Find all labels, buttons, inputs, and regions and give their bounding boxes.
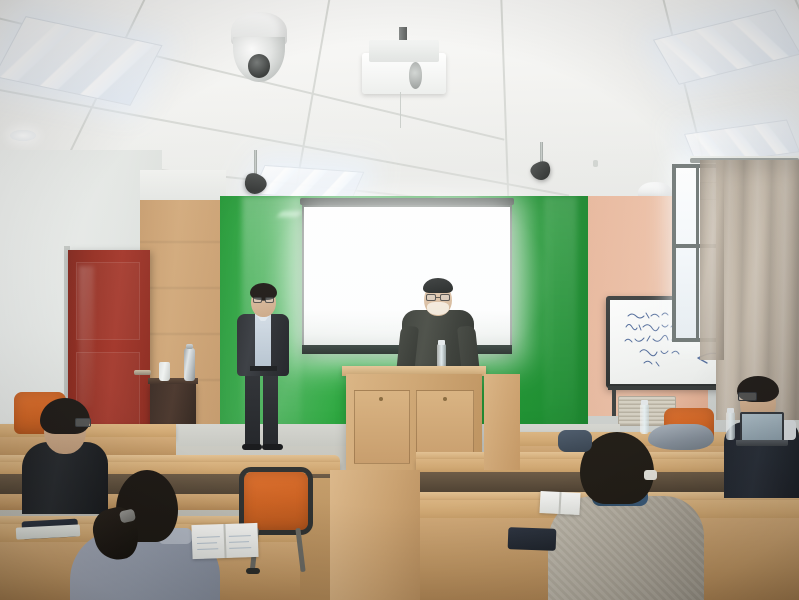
presenter-suit-belt bbox=[250, 366, 277, 371]
water-bottle bbox=[726, 412, 735, 440]
flask-cap bbox=[186, 344, 193, 349]
vacuum-flask bbox=[184, 348, 195, 381]
laptop[interactable] bbox=[740, 412, 784, 442]
open-notebook bbox=[539, 491, 580, 515]
chair-foot bbox=[246, 568, 260, 574]
presenter-suit-shoe bbox=[262, 444, 283, 450]
projector-icon bbox=[362, 28, 446, 94]
dome-camera-icon bbox=[231, 12, 287, 82]
grey-bag bbox=[558, 430, 592, 452]
glasses-icon bbox=[426, 294, 450, 301]
door-highlight bbox=[79, 266, 94, 407]
whiteboard-leg bbox=[612, 386, 616, 416]
podium-cabinet-door[interactable] bbox=[354, 390, 410, 464]
podium-lock-icon bbox=[379, 397, 383, 401]
bottle-cap bbox=[727, 408, 734, 413]
bottle-cap bbox=[438, 340, 445, 345]
presenter-suit-legs bbox=[245, 370, 260, 448]
board-light-reflection bbox=[277, 211, 303, 217]
door-handle-icon[interactable] bbox=[134, 370, 151, 375]
bottle-cap bbox=[641, 400, 648, 405]
laptop-base bbox=[736, 440, 788, 446]
podium-speaker-face-light bbox=[427, 302, 449, 315]
water-bottle bbox=[640, 404, 649, 434]
projection-screen-roller bbox=[300, 198, 514, 205]
lecture-room-photo bbox=[0, 0, 799, 600]
podium-lock-icon bbox=[443, 397, 447, 401]
presenter-suit-shoe bbox=[242, 444, 262, 450]
chair-backrest bbox=[244, 472, 308, 530]
sprinkler-icon bbox=[593, 160, 598, 167]
recessed-downlight bbox=[10, 130, 36, 141]
audience-left-back-hair bbox=[40, 398, 90, 434]
presenter-suit-shirt bbox=[255, 314, 271, 366]
upper-wall-strip bbox=[140, 170, 226, 200]
projector-cable bbox=[400, 92, 401, 128]
tablet[interactable] bbox=[508, 527, 557, 551]
desk-side-panel bbox=[330, 470, 420, 600]
presenter-suit bbox=[232, 278, 294, 450]
audience-center-front bbox=[548, 432, 708, 600]
open-notebook bbox=[191, 523, 258, 559]
wood-column bbox=[484, 374, 520, 470]
window-curtain bbox=[700, 160, 724, 360]
glasses-icon bbox=[253, 297, 274, 303]
hair-clip bbox=[644, 470, 657, 480]
glasses-icon bbox=[75, 418, 91, 427]
grey-bag bbox=[648, 424, 714, 450]
presenter-suit-legs bbox=[263, 370, 278, 448]
paper-cup bbox=[159, 362, 170, 381]
podium-speaker-hat bbox=[423, 278, 453, 293]
glasses-icon bbox=[738, 392, 757, 401]
